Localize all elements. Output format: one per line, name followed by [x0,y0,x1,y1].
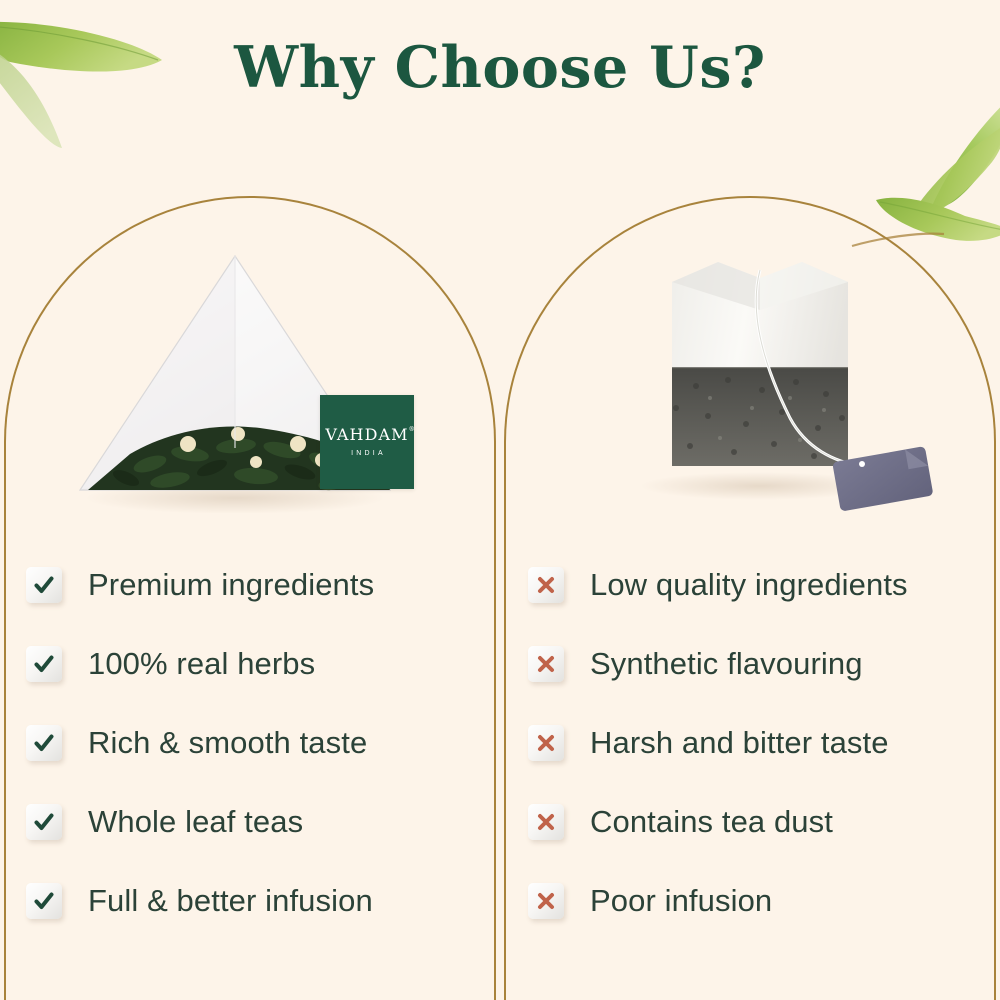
list-item: Rich & smooth taste [26,703,486,782]
trademark-symbol: ® [409,427,416,433]
list-item-label: Harsh and bitter taste [590,725,889,761]
cross-icon [528,646,564,682]
list-item-label: Poor infusion [590,883,772,919]
brand-logo-badge: VAHDAM® INDIA [320,395,414,489]
list-item-label: Premium ingredients [88,567,374,603]
list-item: Low quality ingredients [528,545,988,624]
check-icon [26,804,62,840]
brand-region: INDIA [348,450,386,457]
list-item: Premium ingredients [26,545,486,624]
promo-canvas: Why Choose Us? [0,0,1000,1000]
list-item-label: Whole leaf teas [88,804,303,840]
list-item-label: Low quality ingredients [590,567,908,603]
check-icon [26,567,62,603]
list-item-label: Full & better infusion [88,883,373,919]
page-title: Why Choose Us? [0,38,1000,98]
list-item-label: Contains tea dust [590,804,833,840]
list-item: Synthetic flavouring [528,624,988,703]
cross-icon [528,883,564,919]
list-item: Harsh and bitter taste [528,703,988,782]
list-item: 100% real herbs [26,624,486,703]
check-icon [26,883,62,919]
list-item-label: Synthetic flavouring [590,646,863,682]
product-image-paper-teabag [610,248,940,513]
check-icon [26,725,62,761]
cross-icon [528,567,564,603]
brand-name: VAHDAM® [325,427,408,443]
cross-icon [528,804,564,840]
top-right-leaf-icon [852,96,1000,246]
list-item: Whole leaf teas [26,782,486,861]
cross-icon [528,725,564,761]
drawbacks-list-others: Low quality ingredients Synthetic flavou… [528,545,988,940]
list-item-label: 100% real herbs [88,646,315,682]
list-item-label: Rich & smooth taste [88,725,367,761]
check-icon [26,646,62,682]
list-item: Full & better infusion [26,861,486,940]
list-item: Poor infusion [528,861,988,940]
benefits-list-vahdam: Premium ingredients 100% real herbs Rich… [26,545,486,940]
list-item: Contains tea dust [528,782,988,861]
